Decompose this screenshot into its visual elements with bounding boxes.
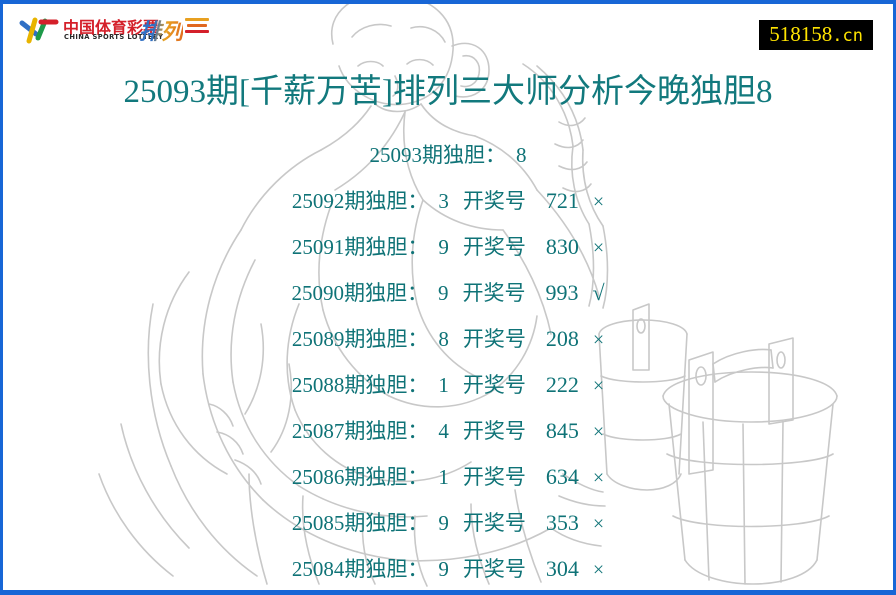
list-item: 25087期独胆：4开奖号845×	[3, 408, 893, 454]
brand-logo: 中国体育彩票 CHINA SPORTS LOTTERY 排列	[19, 12, 209, 48]
miss-mark-icon: ×	[593, 501, 604, 547]
site-tld: .cn	[832, 26, 863, 46]
dan-value: 9	[438, 546, 449, 592]
dan-label: 期独胆：	[344, 270, 428, 316]
game-name-label: 排列	[139, 14, 183, 46]
dan-label: 期独胆：	[344, 500, 428, 546]
page-root: 中国体育彩票 CHINA SPORTS LOTTERY 排列 518158.cn…	[0, 0, 896, 595]
site-watermark-badge: 518158.cn	[759, 20, 873, 50]
miss-mark-icon: ×	[593, 409, 604, 455]
draw-label: 开奖号	[463, 500, 526, 546]
period-number: 25091	[292, 224, 345, 270]
list-item: 25089期独胆：8开奖号208×	[3, 316, 893, 362]
draw-number: 830	[546, 224, 579, 270]
dan-value: 3	[438, 178, 449, 224]
list-item: 25091期独胆：9开奖号830×	[3, 224, 893, 270]
period-number: 25087	[292, 408, 345, 454]
list-item: 25092期独胆：3开奖号721×	[3, 178, 893, 224]
dan-value: 4	[438, 408, 449, 454]
period-number: 25086	[292, 454, 345, 500]
game-suffix-icon	[185, 18, 209, 40]
list-item: 25085期独胆：9开奖号353×	[3, 500, 893, 546]
dan-label: 期独胆：	[344, 362, 428, 408]
draw-label: 开奖号	[463, 408, 526, 454]
miss-mark-icon: ×	[593, 455, 604, 501]
dan-label: 期独胆：	[344, 316, 428, 362]
hit-mark-icon: √	[592, 270, 604, 316]
draw-label: 开奖号	[463, 178, 526, 224]
list-item: 25090期独胆：9开奖号993√	[3, 270, 893, 316]
dan-label: 期独胆：	[344, 546, 428, 592]
period-number: 25085	[292, 500, 345, 546]
miss-mark-icon: ×	[593, 225, 604, 271]
dan-label: 期独胆：	[344, 178, 428, 224]
list-item: 25093期独胆：8	[3, 132, 893, 178]
draw-number: 993	[545, 270, 578, 316]
draw-number: 304	[546, 546, 579, 592]
list-item: 25088期独胆：1开奖号222×	[3, 362, 893, 408]
page-header: 中国体育彩票 CHINA SPORTS LOTTERY 排列 518158.cn	[3, 4, 893, 56]
list-item: 25086期独胆：1开奖号634×	[3, 454, 893, 500]
draw-number: 222	[546, 362, 579, 408]
dan-value: 8	[438, 316, 449, 362]
draw-label: 开奖号	[463, 546, 526, 592]
period-number: 25092	[292, 178, 345, 224]
period-number: 25090	[291, 270, 344, 316]
dan-label: 期独胆：	[344, 224, 428, 270]
draw-label: 开奖号	[462, 270, 525, 316]
draw-label: 开奖号	[463, 316, 526, 362]
game-logo: 排列	[139, 14, 209, 44]
draw-label: 开奖号	[463, 454, 526, 500]
dan-value: 1	[438, 454, 449, 500]
dan-value: 9	[438, 500, 449, 546]
draw-label: 开奖号	[463, 224, 526, 270]
prediction-list: 25093期独胆：825092期独胆：3开奖号721×25091期独胆：9开奖号…	[3, 132, 893, 592]
draw-number: 845	[546, 408, 579, 454]
draw-number: 634	[546, 454, 579, 500]
miss-mark-icon: ×	[593, 317, 604, 363]
dan-label: 期独胆：	[422, 132, 506, 178]
miss-mark-icon: ×	[593, 179, 604, 225]
dan-label: 期独胆：	[344, 408, 428, 454]
dan-value: 8	[516, 132, 527, 178]
dan-value: 9	[438, 270, 449, 316]
period-number: 25088	[292, 362, 345, 408]
draw-number: 721	[546, 178, 579, 224]
sports-lottery-logo-icon	[19, 14, 59, 46]
list-item: 25084期独胆：9开奖号304×	[3, 546, 893, 592]
miss-mark-icon: ×	[593, 547, 604, 593]
draw-number: 353	[546, 500, 579, 546]
dan-label: 期独胆：	[344, 454, 428, 500]
period-number: 25089	[292, 316, 345, 362]
page-title: 25093期[千薪万苦]排列三大师分析今晚独胆8	[3, 64, 893, 112]
period-number: 25084	[292, 546, 345, 592]
draw-label: 开奖号	[463, 362, 526, 408]
dan-value: 1	[438, 362, 449, 408]
miss-mark-icon: ×	[593, 363, 604, 409]
period-number: 25093	[370, 132, 423, 178]
site-name: 518158	[769, 22, 832, 46]
draw-number: 208	[546, 316, 579, 362]
dan-value: 9	[438, 224, 449, 270]
